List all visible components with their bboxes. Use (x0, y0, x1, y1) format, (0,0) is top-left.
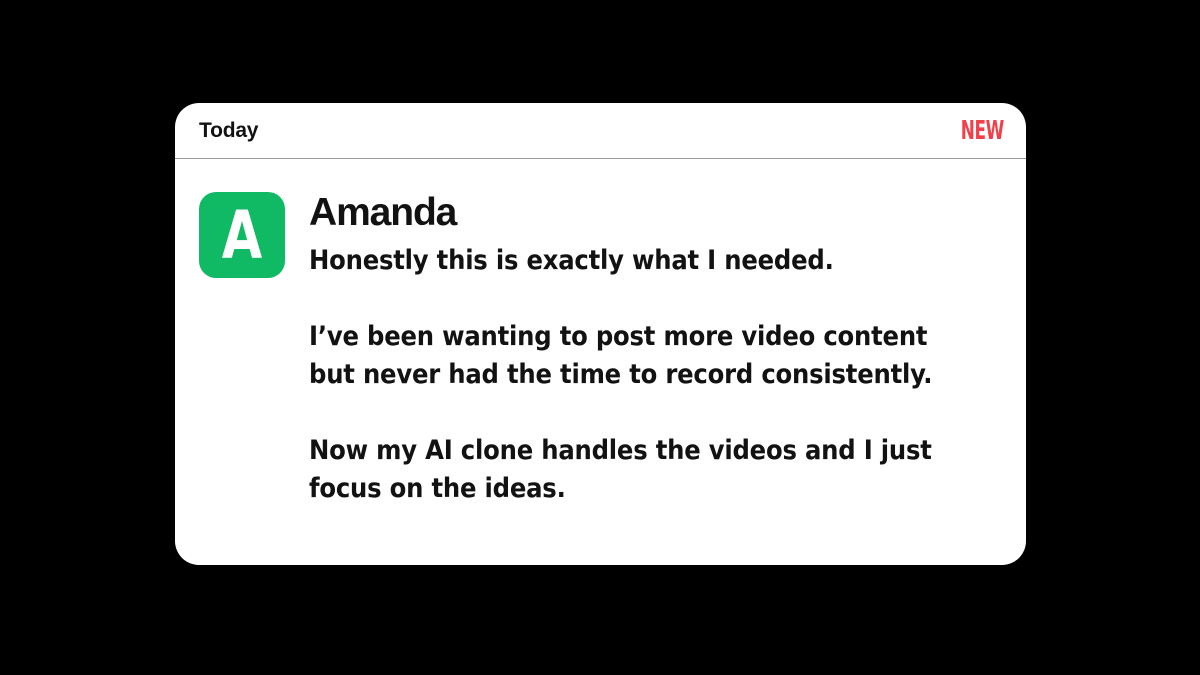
notification-card[interactable]: Today NEW A Amanda Honestly this is exac… (175, 103, 1026, 565)
message-column: Amanda Honestly this is exactly what I n… (309, 192, 1002, 565)
message-paragraph-1: Honestly this is exactly what I needed. (309, 242, 1002, 280)
message-paragraph-2: I’ve been wanting to post more video con… (309, 318, 1002, 394)
status-badge: NEW (961, 118, 1004, 144)
sender-name: Amanda (309, 193, 1002, 234)
message-line: but never had the time to record consist… (309, 356, 1002, 394)
message-line: Now my AI clone handles the videos and I… (309, 432, 1002, 470)
message-paragraph-3: Now my AI clone handles the videos and I… (309, 432, 1002, 508)
page-title: Today (199, 120, 258, 141)
avatar-initial: A (222, 203, 262, 269)
message-line: focus on the ideas. (309, 470, 1002, 508)
avatar[interactable]: A (199, 192, 285, 278)
card-header: Today NEW (175, 103, 1026, 159)
message-line: Honestly this is exactly what I needed. (309, 242, 1002, 280)
message-line: I’ve been wanting to post more video con… (309, 318, 1002, 356)
notification-body: A Amanda Honestly this is exactly what I… (175, 159, 1026, 565)
